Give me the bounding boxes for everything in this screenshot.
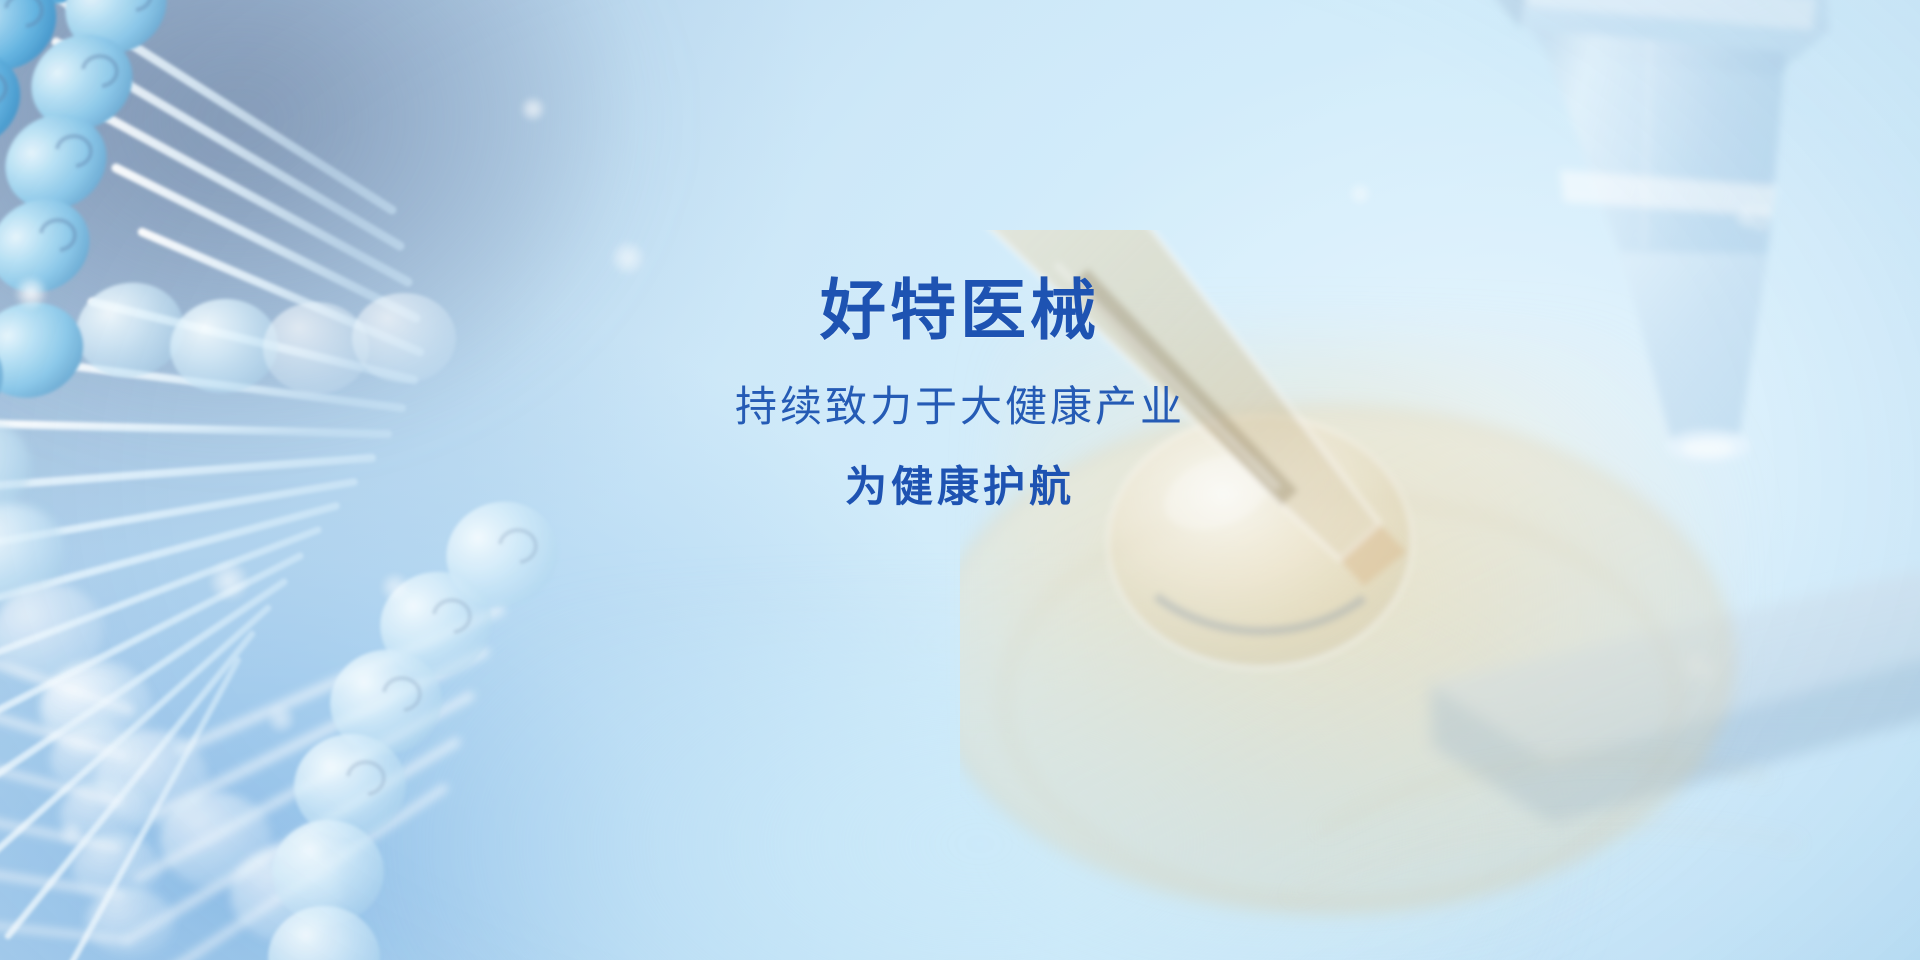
bokeh-dot <box>266 704 296 734</box>
hero-banner: 40 <box>0 0 1920 960</box>
bokeh-dot <box>520 96 546 122</box>
bokeh-dot <box>610 240 646 276</box>
bokeh-dot <box>1348 182 1372 206</box>
headline-slogan: 为健康护航 <box>0 462 1920 512</box>
headline-subtitle: 持续致力于大健康产业 <box>0 382 1920 432</box>
bokeh-dot <box>380 572 410 602</box>
page-title: 好特医械 <box>0 272 1920 350</box>
bokeh-dot <box>208 560 250 602</box>
background-haze-bottom <box>380 620 1580 960</box>
bokeh-dot <box>58 820 84 846</box>
headline-block: 好特医械 持续致力于大健康产业 为健康护航 <box>0 272 1920 513</box>
